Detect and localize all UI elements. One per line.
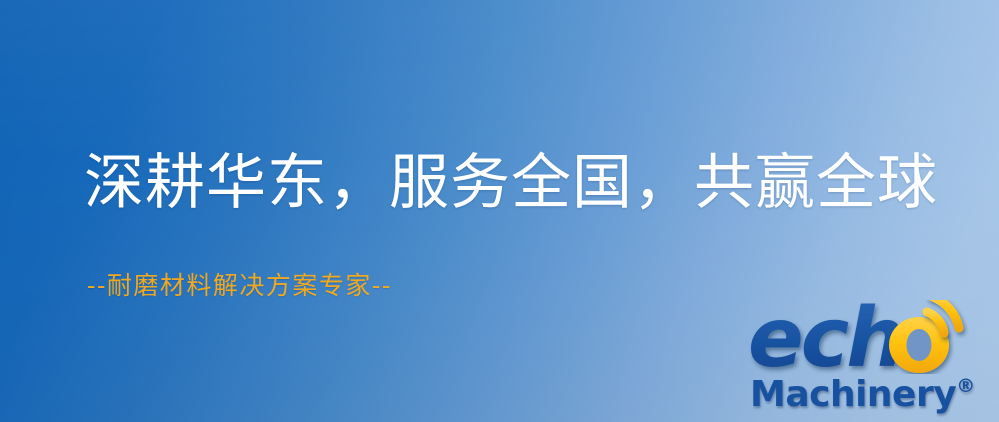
logo-letter-o-counter: [907, 329, 932, 361]
logo-wordmark-svg: ech: [748, 300, 996, 374]
logo-subtext: Machinery®: [750, 374, 975, 415]
banner-subtitle: --耐磨材料解决方案专家--: [87, 266, 392, 302]
registered-trademark-icon: ®: [956, 375, 975, 397]
echo-machinery-logo[interactable]: ech Machinery®: [748, 300, 996, 418]
hero-banner: 深耕华东，服务全国，共赢全球 --耐磨材料解决方案专家--: [0, 0, 999, 422]
banner-headline: 深耕华东，服务全国，共赢全球: [84, 152, 938, 215]
logo-letters-ech-group: ech: [748, 300, 902, 374]
logo-subtext-label: Machinery: [750, 374, 956, 415]
logo-letters-ech: ech: [748, 300, 902, 374]
